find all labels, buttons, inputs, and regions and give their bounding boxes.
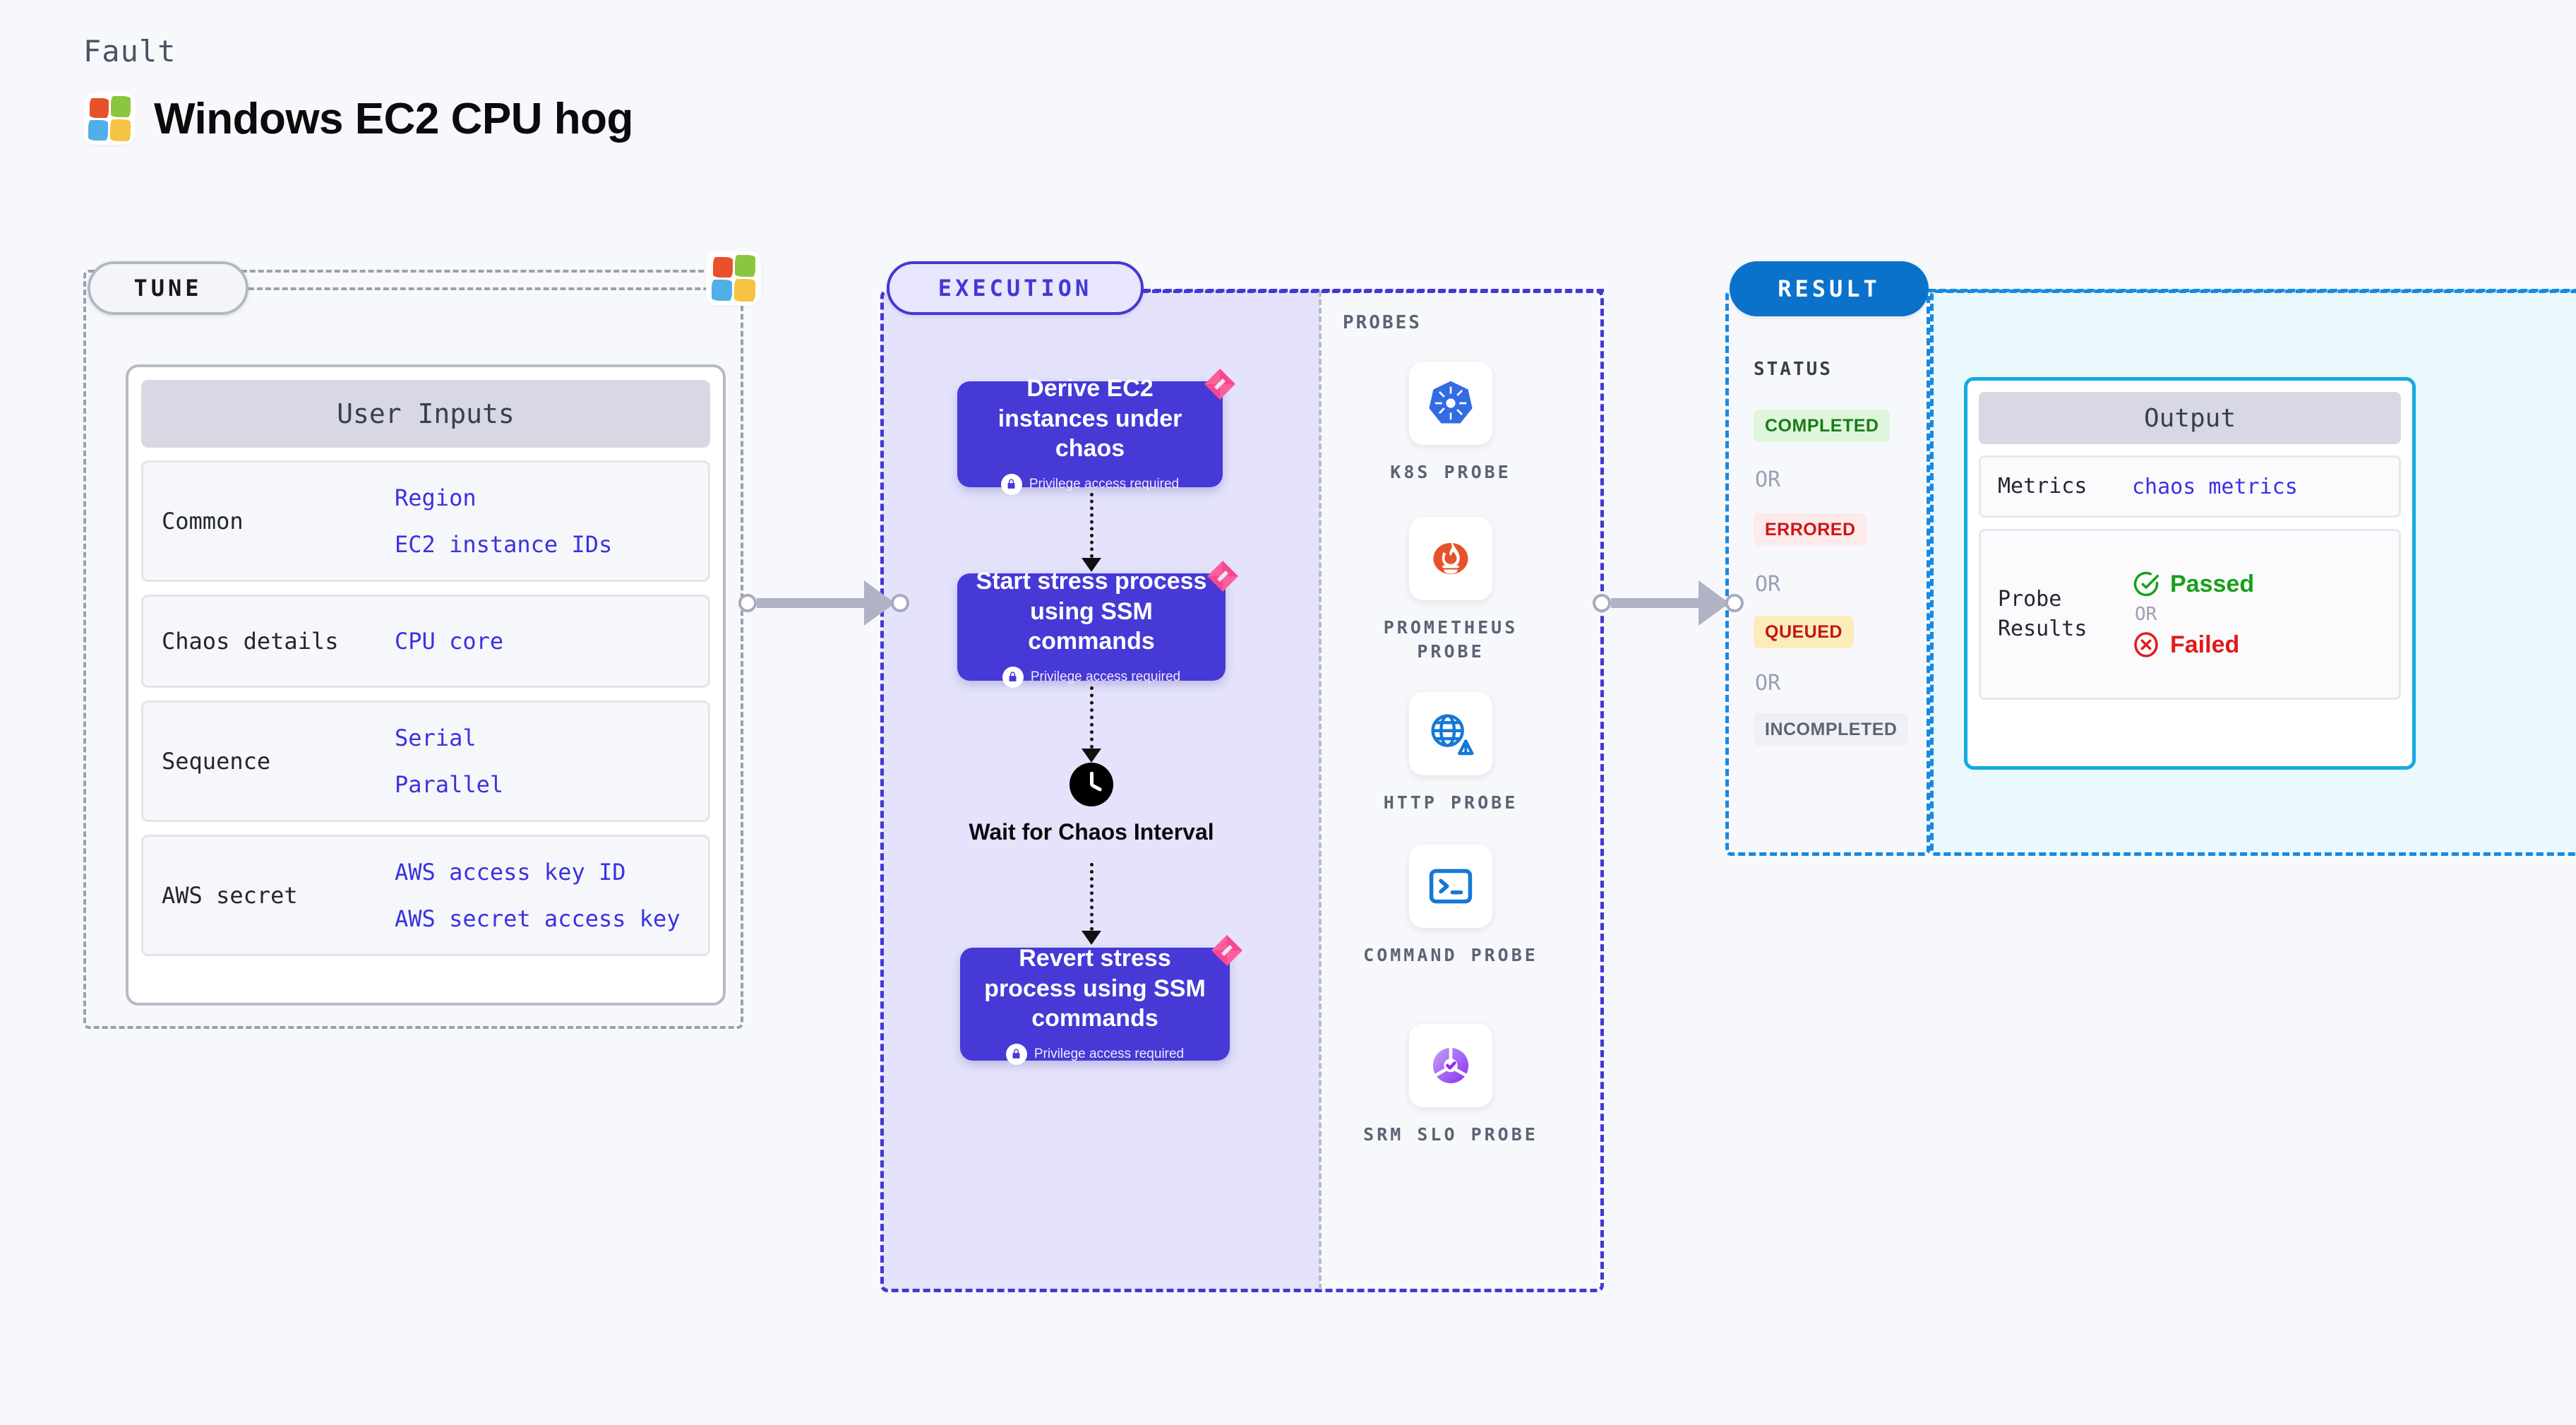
tune-value[interactable]: EC2 instance IDs	[395, 531, 612, 558]
probe-result-values: Passed OR Failed	[2132, 570, 2254, 659]
probe-result-or: OR	[2135, 604, 2254, 625]
srm-slo-icon	[1409, 1024, 1492, 1107]
lock-icon	[1006, 1044, 1027, 1065]
output-row-metrics: Metrics chaos metrics	[1979, 455, 2401, 518]
arrow-line	[1611, 598, 1699, 608]
tune-value[interactable]: Parallel	[395, 771, 503, 798]
probes-section-label: PROBES	[1343, 312, 1422, 333]
execution-node-derive-ec2-instances[interactable]: Derive EC2 instances under chaos Privile…	[957, 381, 1223, 487]
probe-result-failed-label: Failed	[2170, 631, 2239, 659]
arrow-line	[757, 598, 864, 608]
x-circle-icon	[2132, 631, 2160, 659]
probe-k8s[interactable]: K8S PROBE	[1359, 362, 1542, 484]
probe-http[interactable]: HTTP PROBE	[1359, 692, 1542, 815]
tune-to-execution-arrow	[738, 580, 909, 626]
user-inputs-title: User Inputs	[141, 380, 710, 448]
tune-row-chaos-details-key: Chaos details	[162, 625, 395, 657]
execution-rail	[1144, 289, 1604, 292]
tune-row-aws-secret-key: AWS secret	[162, 879, 395, 912]
tune-row-chaos-details-values: CPU core	[395, 628, 503, 655]
harness-mark-icon	[1202, 555, 1244, 597]
execution-to-result-arrow	[1593, 580, 1744, 626]
execution-node-start-stress-process[interactable]: Start stress process using SSM commands …	[957, 573, 1226, 681]
tune-row-chaos-details: Chaos details CPU core	[141, 595, 710, 688]
status-badge-completed: COMPLETED	[1754, 410, 1890, 442]
tune-row-sequence: Sequence Serial Parallel	[141, 700, 710, 822]
output-metrics-value[interactable]: chaos metrics	[2132, 475, 2298, 499]
probe-srm-slo[interactable]: SRM SLO PROBE	[1359, 1024, 1542, 1147]
status-badge-label: ERRORED	[1765, 520, 1856, 540]
kubernetes-icon	[1409, 362, 1492, 445]
execution-connector	[1090, 493, 1094, 558]
output-card-title: Output	[1979, 392, 2401, 444]
status-badge-incompleted: INCOMPLETED	[1754, 713, 1908, 746]
arrow-end-dot	[1725, 594, 1744, 612]
tune-row-common-key: Common	[162, 505, 395, 537]
output-probe-results-key: Probe Results	[1998, 585, 2132, 644]
terminal-icon	[1409, 845, 1492, 928]
execution-connector-arrow	[1082, 931, 1101, 945]
stage-pill-tune-label: TUNE	[133, 275, 202, 302]
probe-result-passed-label: Passed	[2170, 571, 2254, 598]
tune-value[interactable]: CPU core	[395, 628, 503, 655]
status-or: OR	[1755, 467, 1780, 492]
prometheus-icon	[1409, 517, 1492, 600]
status-badge-label: INCOMPLETED	[1765, 720, 1897, 740]
tune-value[interactable]: AWS access key ID	[395, 859, 681, 886]
probe-label: PROMETHEUS PROBE	[1359, 616, 1542, 664]
result-rail	[1929, 289, 2576, 292]
stage-pill-execution-label: EXECUTION	[938, 275, 1092, 302]
clock-icon	[1070, 763, 1113, 806]
windows-logo-icon	[83, 93, 136, 145]
stage-pill-result-label: RESULT	[1778, 275, 1881, 302]
privilege-note: Privilege access required	[1006, 1044, 1184, 1065]
harness-mark-icon	[1206, 929, 1248, 972]
windows-logo-icon	[706, 251, 761, 306]
privilege-note: Privilege access required	[1001, 474, 1179, 495]
status-badge-queued: QUEUED	[1754, 616, 1854, 648]
probe-label: COMMAND PROBE	[1363, 943, 1538, 967]
probes-divider	[1319, 291, 1322, 1289]
tune-row-aws-secret: AWS secret AWS access key ID AWS secret …	[141, 835, 710, 956]
lock-icon	[1001, 474, 1022, 495]
http-globe-warning-icon	[1409, 692, 1492, 775]
tune-value[interactable]: Serial	[395, 725, 503, 751]
harness-mark-icon	[1199, 363, 1241, 405]
fault-kicker: Fault	[83, 34, 633, 68]
status-or: OR	[1755, 572, 1780, 597]
title-row: Windows EC2 CPU hog	[83, 93, 633, 145]
execution-connector	[1090, 686, 1094, 749]
arrow-end-dot	[891, 594, 909, 612]
output-row-probe-results: Probe Results Passed OR Failed	[1979, 529, 2401, 700]
execution-connector-arrow	[1082, 749, 1101, 763]
output-card: Output Metrics chaos metrics Probe Resul…	[1964, 377, 2416, 770]
execution-node-title: Start stress process using SSM commands	[957, 566, 1226, 657]
tune-row-sequence-values: Serial Parallel	[395, 725, 503, 798]
stage-pill-execution[interactable]: EXECUTION	[887, 261, 1144, 315]
probe-label: K8S PROBE	[1390, 460, 1511, 484]
privilege-note: Privilege access required	[1002, 667, 1180, 688]
tune-row-common: Common Region EC2 instance IDs	[141, 460, 710, 582]
tune-value[interactable]: AWS secret access key	[395, 905, 681, 932]
privilege-note-label: Privilege access required	[1034, 1047, 1184, 1062]
probe-label: HTTP PROBE	[1384, 791, 1518, 815]
arrow-start-dot	[738, 594, 757, 612]
probe-result-failed: Failed	[2132, 631, 2254, 659]
tune-value[interactable]: Region	[395, 484, 612, 511]
wait-step-label: Wait for Chaos Interval	[969, 818, 1214, 847]
execution-node-title: Derive EC2 instances under chaos	[957, 374, 1223, 464]
probe-command[interactable]: COMMAND PROBE	[1359, 845, 1542, 967]
tune-row-aws-secret-values: AWS access key ID AWS secret access key	[395, 859, 681, 932]
page-header: Fault Windows EC2 CPU hog	[83, 34, 633, 145]
probe-label: SRM SLO PROBE	[1363, 1123, 1538, 1147]
tune-row-common-values: Region EC2 instance IDs	[395, 484, 612, 558]
stage-pill-result[interactable]: RESULT	[1730, 261, 1929, 316]
status-or: OR	[1755, 671, 1780, 696]
probe-result-passed: Passed	[2132, 570, 2254, 598]
execution-node-title: Revert stress process using SSM commands	[960, 943, 1230, 1034]
execution-connector	[1090, 863, 1094, 931]
privilege-note-label: Privilege access required	[1029, 477, 1179, 492]
privilege-note-label: Privilege access required	[1031, 669, 1180, 685]
page-title: Windows EC2 CPU hog	[154, 94, 633, 144]
tune-rail	[248, 287, 743, 290]
status-badge-errored: ERRORED	[1754, 513, 1867, 546]
tune-row-sequence-key: Sequence	[162, 745, 395, 777]
lock-icon	[1002, 667, 1024, 688]
user-inputs-card: User Inputs Common Region EC2 instance I…	[126, 364, 726, 1006]
execution-node-revert-stress-process[interactable]: Revert stress process using SSM commands…	[960, 948, 1230, 1061]
check-circle-icon	[2132, 570, 2160, 598]
output-metrics-key: Metrics	[1998, 472, 2132, 501]
status-badge-label: QUEUED	[1765, 622, 1843, 643]
status-badge-label: COMPLETED	[1765, 416, 1879, 436]
stage-pill-tune[interactable]: TUNE	[88, 261, 248, 315]
execution-node-wait-for-chaos-interval[interactable]: Wait for Chaos Interval	[957, 763, 1226, 847]
status-section-label: STATUS	[1754, 359, 1833, 380]
probe-prometheus[interactable]: PROMETHEUS PROBE	[1359, 517, 1542, 664]
arrow-start-dot	[1593, 594, 1611, 612]
